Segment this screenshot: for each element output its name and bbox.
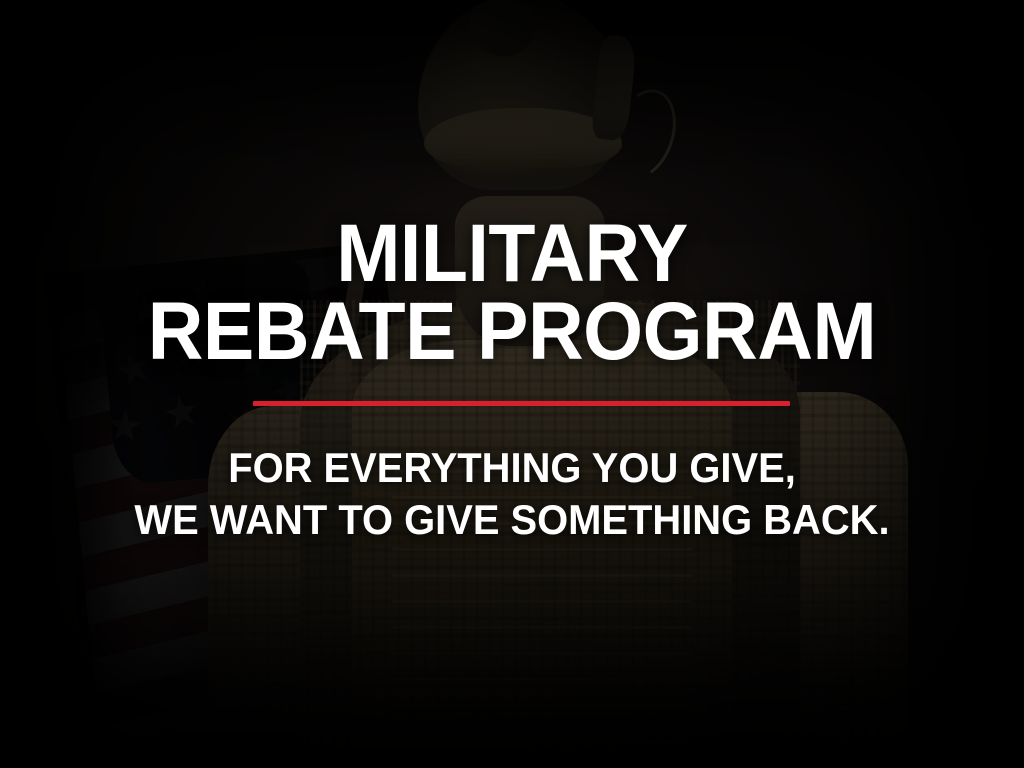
page-title-line-2: REBATE PROGRAM: [31, 294, 994, 369]
page-title-line-1: MILITARY: [31, 216, 994, 291]
subtitle-line-2: WE WANT TO GIVE SOMETHING BACK.: [26, 498, 999, 543]
slide-content: MILITARY REBATE PROGRAM FOR EVERYTHING Y…: [0, 0, 1024, 768]
military-rebate-program-slide: MILITARY REBATE PROGRAM FOR EVERYTHING Y…: [0, 0, 1024, 768]
red-divider-rule: [253, 401, 790, 406]
subtitle-line-1: FOR EVERYTHING YOU GIVE,: [26, 446, 999, 491]
